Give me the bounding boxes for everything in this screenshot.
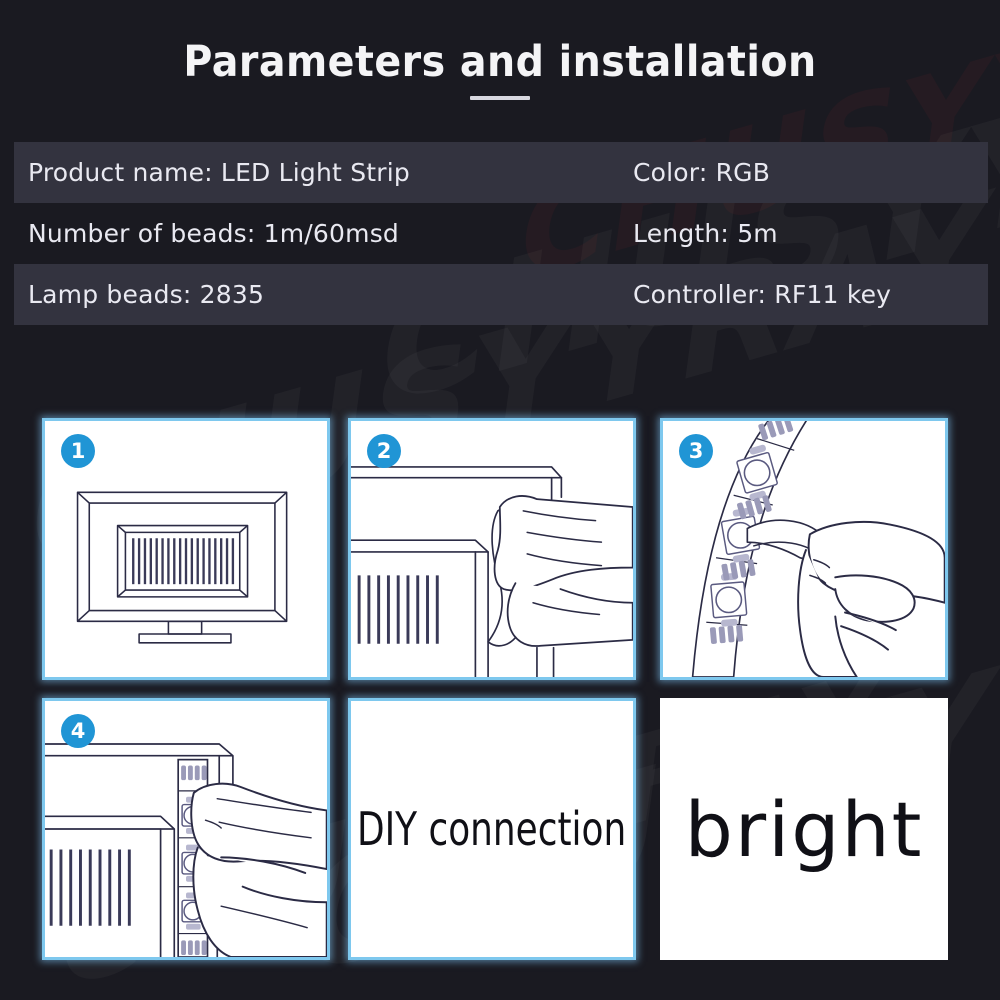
poster-root: CHUSYYRAY CHUSYYRAY CHUSYYRAY CHUSYYRAY … — [0, 0, 1000, 1000]
header: Parameters and installation — [0, 40, 1000, 100]
spec-cell-controller: Controller: RF11 key — [633, 280, 973, 309]
table-row: Number of beads: 1m/60msd Length: 5m — [14, 203, 988, 264]
table-row: Lamp beads: 2835 Controller: RF11 key — [14, 264, 988, 325]
caption-bright: bright — [685, 785, 924, 874]
page-title: Parameters and installation — [40, 40, 960, 85]
step-badge-4: 4 — [61, 714, 95, 748]
step-badge-3: 3 — [679, 434, 713, 468]
spec-cell-number-of-beads: Number of beads: 1m/60msd — [28, 219, 633, 248]
step-badge-1: 1 — [61, 434, 95, 468]
caption-diy-connection: DIY connection — [357, 802, 626, 856]
title-underline-rule — [470, 96, 530, 100]
step-panel-2: 2 — [348, 418, 636, 680]
step-panel-4: 4 — [42, 698, 330, 960]
specification-table: Product name: LED Light Strip Color: RGB… — [14, 142, 988, 325]
caption-panel-bright: bright — [660, 698, 948, 960]
table-row: Product name: LED Light Strip Color: RGB — [14, 142, 988, 203]
caption-bright-wrap: bright — [660, 698, 948, 960]
step-badge-2: 2 — [367, 434, 401, 468]
spec-cell-length: Length: 5m — [633, 219, 973, 248]
spec-cell-lamp-beads: Lamp beads: 2835 — [28, 280, 633, 309]
spec-cell-color: Color: RGB — [633, 158, 973, 187]
caption-panel-diy-connection: DIY connection — [348, 698, 636, 960]
step-panel-3: 3 — [660, 418, 948, 680]
step-panel-1: 1 — [42, 418, 330, 680]
caption-diy-wrap: DIY connection — [351, 701, 633, 957]
spec-cell-product-name: Product name: LED Light Strip — [28, 158, 633, 187]
